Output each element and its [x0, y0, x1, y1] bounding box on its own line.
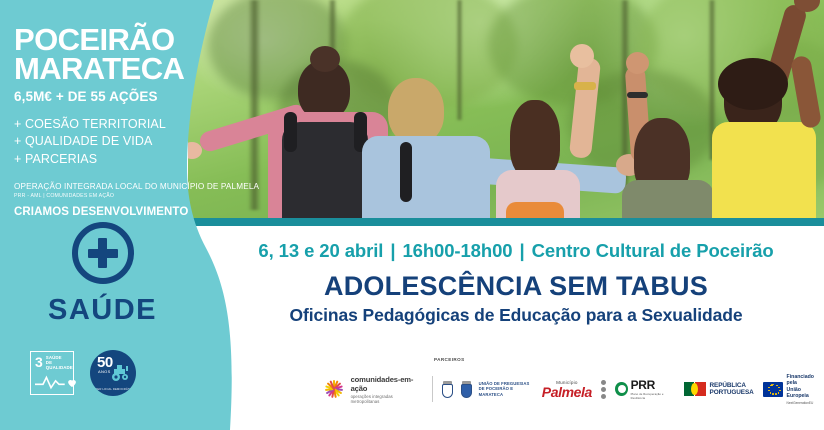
shield-shape [442, 384, 453, 398]
logo-divider [432, 376, 433, 402]
municipio-name: Palmela [542, 385, 592, 399]
comunidades-em-acao-logo: comunidades-em-ação operações integradas… [322, 375, 423, 404]
brand-programme: PRR - AML | COMUNIDADES EM AÇÃO [14, 193, 254, 199]
comunidades-tagline: operações integradas metropolitanas [351, 394, 423, 404]
eu-line1: Financiado pela [787, 374, 822, 387]
sdg-text: SAÚDE DE QUALIDADE [46, 355, 73, 371]
backpack-strap [284, 112, 297, 152]
partner-mark [601, 380, 606, 385]
brand-bullet: + QUALIDADE DE VIDA [14, 133, 254, 151]
comunidades-text: comunidades-em-ação operações integradas… [351, 375, 423, 404]
shield-shape [461, 384, 472, 398]
raised-arm [569, 57, 601, 159]
fist [570, 44, 594, 68]
prr-caption: Plano de Recuperação e Resiliência [631, 392, 675, 400]
brand-bullet: + PARCERIAS [14, 151, 254, 169]
meta-separator: | [518, 240, 527, 261]
secondary-partner-marks [601, 380, 606, 399]
brand-operation: OPERAÇÃO INTEGRADA LOCAL DO MUNICÍPIO DE… [14, 182, 254, 191]
dot-icon [601, 394, 606, 399]
footer-logos: comunidades-em-ação operações integradas… [322, 368, 822, 410]
crest-icon [460, 381, 473, 398]
portugal-flag-icon [684, 382, 706, 396]
eu-flag-icon [763, 382, 783, 397]
municipio-palmela-logo: Município Palmela [542, 380, 592, 399]
brand-bullets: + COESÃO TERRITORIAL + QUALIDADE DE VIDA… [14, 116, 254, 169]
event-meta: 6, 13 e 20 abril | 16h00-18h00 | Centro … [208, 240, 824, 262]
event-time: 16h00-18h00 [402, 240, 512, 261]
partner-mark [601, 387, 606, 392]
person-5 [698, 0, 824, 226]
torso [712, 122, 816, 226]
republica-line1: REPÚBLICA [710, 382, 754, 389]
bracelet [627, 92, 648, 98]
50-anos-badge: 50 ANOS PODER LOCAL DEMOCRÁTICO [90, 350, 136, 396]
head [388, 78, 444, 144]
plus-circle-icon [72, 222, 134, 284]
uf-line2: DE POCEIRÃO E MARATECA [479, 386, 533, 397]
republica-text: REPÚBLICA PORTUGUESA [710, 382, 754, 397]
brand-title: POCEIRÃO MARATECA [14, 26, 254, 84]
badge-row: 3 SAÚDE DE QUALIDADE 50 ANOS [30, 350, 136, 396]
brand-title-line2: MARATECA [14, 55, 254, 84]
event-block: 6, 13 e 20 abril | 16h00-18h00 | Centro … [208, 240, 824, 326]
meta-separator: | [388, 240, 397, 261]
brand-budget: 6,5M€ + DE 55 AÇÕES [14, 89, 254, 104]
republica-portuguesa-logo: REPÚBLICA PORTUGUESA [684, 382, 754, 397]
dot-icon [601, 380, 606, 385]
sdg-3-badge: 3 SAÚDE DE QUALIDADE [30, 351, 74, 395]
eu-text: Financiado pela União Europeia NextGener… [787, 374, 822, 405]
partners-label: PARCEIROS [434, 357, 465, 362]
tractor-icon [108, 362, 132, 382]
backpack-strap [400, 142, 412, 202]
sdg-heading: 3 SAÚDE DE QUALIDADE [35, 355, 69, 371]
sdg-number: 3 [35, 355, 43, 369]
theme-block: SAÚDE [0, 222, 205, 327]
wrist-watch [574, 82, 596, 90]
partner-mark [601, 394, 606, 399]
fist [626, 52, 649, 74]
hero-photo [188, 0, 824, 226]
hair-bun [310, 46, 340, 72]
dot-icon [601, 387, 606, 392]
crest-icon [441, 381, 454, 398]
republica-line2: PORTUGUESA [710, 389, 754, 396]
comunidades-name: comunidades-em-ação [351, 375, 423, 393]
head [510, 100, 560, 178]
event-dates: 6, 13 e 20 abril [258, 240, 383, 261]
eu-line2: União Europeia [787, 387, 822, 400]
poster-canvas: POCEIRÃO MARATECA 6,5M€ + DE 55 AÇÕES + … [0, 0, 824, 430]
event-venue: Centro Cultural de Poceirão [532, 240, 774, 261]
uniao-freguesias-text: UNIÃO DE FREGUESIAS DE POCEIRÃO E MARATE… [479, 381, 533, 397]
prr-mark-icon [615, 382, 628, 396]
theme-label: SAÚDE [0, 294, 205, 327]
photo-accent-bar [188, 218, 824, 226]
uniao-freguesias-logo: UNIÃO DE FREGUESIAS DE POCEIRÃO E MARATE… [441, 381, 532, 398]
brand-header: POCEIRÃO MARATECA 6,5M€ + DE 55 AÇÕES + … [14, 26, 254, 218]
brand-slogan: CRIAMOS DESENVOLVIMENTO [14, 206, 254, 218]
afro-hair [718, 58, 788, 110]
event-title: ADOLESCÊNCIA SEM TABUS [208, 271, 824, 302]
event-subtitle: Oficinas Pedagógicas de Educação para a … [208, 305, 824, 326]
brand-bullet: + COESÃO TERRITORIAL [14, 116, 254, 134]
anniversary-caption: PODER LOCAL DEMOCRÁTICO [90, 387, 136, 391]
prr-acronym: PRR [631, 379, 675, 391]
sdg-text-line2: DE QUALIDADE [46, 360, 73, 370]
prr-logo: PRR Plano de Recuperação e Resiliência [615, 379, 675, 400]
arm [790, 55, 822, 129]
heartbeat-icon [35, 374, 76, 390]
eu-line3: NextGenerationEU [787, 401, 822, 405]
burst-icon [322, 376, 346, 402]
prr-text: PRR Plano de Recuperação e Resiliência [631, 379, 675, 400]
european-union-logo: Financiado pela União Europeia NextGener… [763, 374, 822, 405]
